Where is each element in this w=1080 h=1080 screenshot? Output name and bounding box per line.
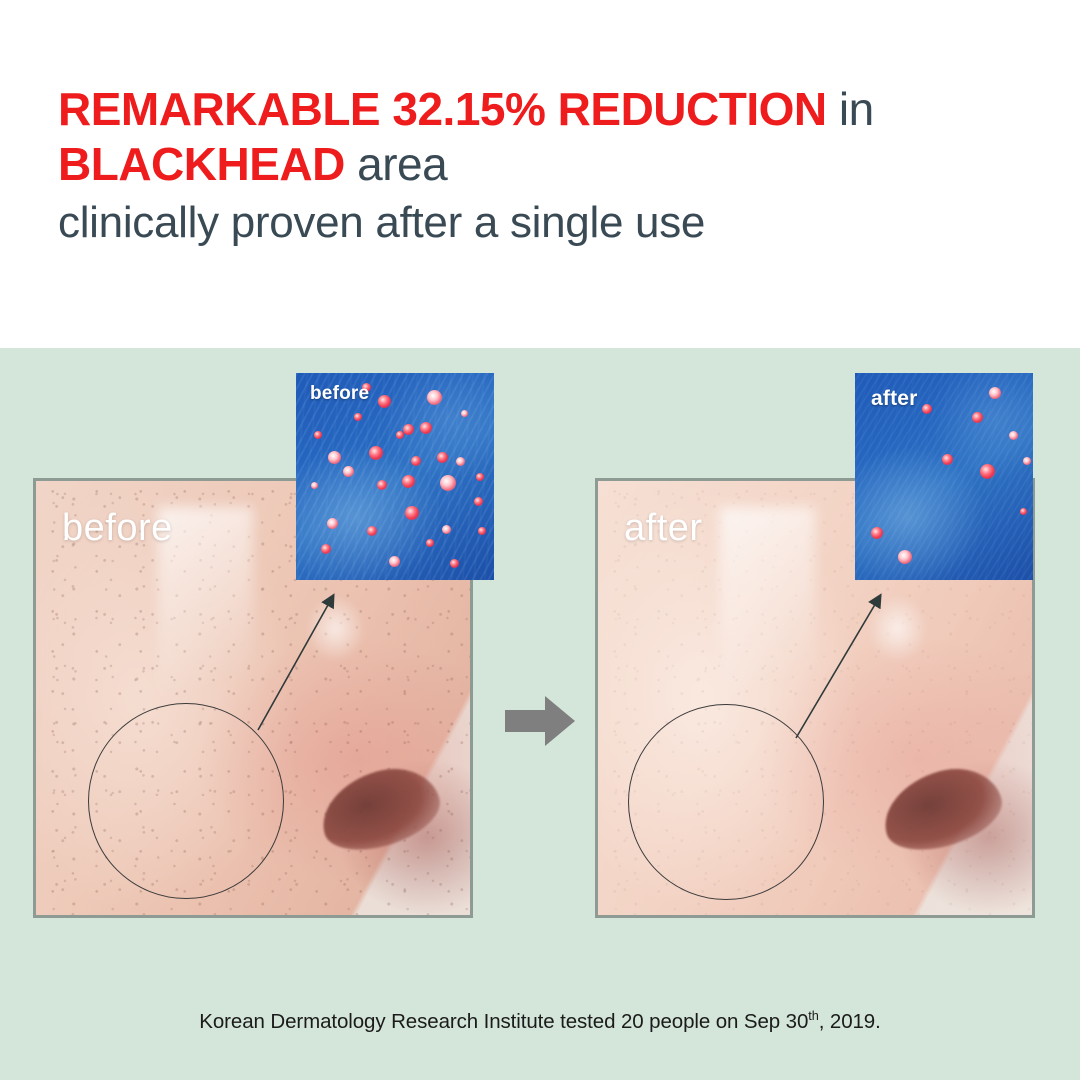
uv-blackhead-dot bbox=[420, 422, 432, 434]
uv-blackhead-dot bbox=[980, 464, 995, 479]
uv-blackhead-dot bbox=[476, 473, 484, 481]
footer-text-main: Korean Dermatology Research Institute te… bbox=[199, 1010, 808, 1033]
headline-line-1: REMARKABLE 32.15% REDUCTION in bbox=[58, 84, 1018, 135]
footer-text-tail: , 2019. bbox=[819, 1010, 881, 1033]
headline-line-2-suffix: area bbox=[345, 138, 447, 190]
before-uv-inset: before bbox=[296, 373, 494, 580]
uv-blackhead-dot bbox=[989, 387, 1001, 399]
uv-blackhead-dot bbox=[389, 556, 400, 567]
headline-blackhead-text: BLACKHEAD bbox=[58, 138, 345, 190]
after-uv-inset: after bbox=[855, 373, 1033, 580]
uv-blackhead-dot bbox=[396, 431, 404, 439]
headline-reduction-text: REMARKABLE 32.15% REDUCTION bbox=[58, 83, 827, 135]
uv-blackhead-dot bbox=[369, 446, 383, 460]
after-skin-highlight-secondary bbox=[867, 594, 928, 663]
before-skin-highlight-secondary bbox=[305, 594, 366, 663]
uv-blackhead-dot bbox=[314, 431, 322, 439]
headline-line-2: BLACKHEAD area bbox=[58, 139, 1018, 190]
uv-blackhead-dot bbox=[1023, 457, 1031, 465]
uv-blackhead-dot bbox=[972, 412, 983, 423]
uv-blackhead-dot bbox=[402, 475, 415, 488]
uv-blackhead-dot bbox=[474, 497, 483, 506]
uv-blackhead-dot bbox=[426, 539, 434, 547]
uv-blackhead-dot bbox=[1009, 431, 1018, 440]
uv-blackhead-dot bbox=[367, 526, 377, 536]
headline-line-3: clinically proven after a single use bbox=[58, 199, 1018, 247]
transition-arrow-icon bbox=[505, 694, 575, 748]
uv-blackhead-dot bbox=[328, 451, 341, 464]
footer-ordinal-suffix: th bbox=[808, 1008, 818, 1023]
uv-blackhead-dot bbox=[456, 457, 465, 466]
headline-block: REMARKABLE 32.15% REDUCTION in BLACKHEAD… bbox=[58, 84, 1018, 248]
uv-blackhead-dot bbox=[450, 559, 459, 568]
uv-blackhead-dot bbox=[922, 404, 932, 414]
uv-blackhead-dot bbox=[898, 550, 912, 564]
uv-blackhead-dot bbox=[427, 390, 442, 405]
uv-blackhead-dot bbox=[437, 452, 448, 463]
before-photo-label: before bbox=[62, 507, 173, 550]
uv-blackhead-dot bbox=[321, 544, 331, 554]
after-skin-highlight bbox=[720, 507, 815, 759]
uv-blackhead-dot bbox=[440, 475, 456, 491]
uv-blackhead-dot bbox=[1020, 508, 1027, 515]
uv-blackhead-dot bbox=[343, 466, 354, 477]
uv-blackhead-dot bbox=[411, 456, 421, 466]
poster-canvas: REMARKABLE 32.15% REDUCTION in BLACKHEAD… bbox=[0, 0, 1080, 1080]
uv-blackhead-dot bbox=[871, 527, 883, 539]
uv-blackhead-dot bbox=[478, 527, 486, 535]
uv-blackhead-dot bbox=[327, 518, 338, 529]
uv-blackhead-dot bbox=[405, 506, 419, 520]
headline-line-1-suffix: in bbox=[827, 83, 874, 135]
uv-blackhead-dot bbox=[461, 410, 468, 417]
after-inset-label: after bbox=[871, 387, 918, 411]
uv-blackhead-dot bbox=[403, 424, 414, 435]
uv-blackhead-dot bbox=[354, 413, 362, 421]
uv-blackhead-dot bbox=[311, 482, 318, 489]
uv-blackhead-dot bbox=[942, 454, 953, 465]
before-inset-label: before bbox=[310, 383, 369, 405]
uv-blackhead-dot bbox=[442, 525, 451, 534]
footer-citation: Korean Dermatology Research Institute te… bbox=[0, 1008, 1080, 1034]
uv-blackhead-dot bbox=[377, 480, 387, 490]
after-photo-label: after bbox=[624, 507, 703, 550]
uv-blackhead-dot bbox=[378, 395, 391, 408]
